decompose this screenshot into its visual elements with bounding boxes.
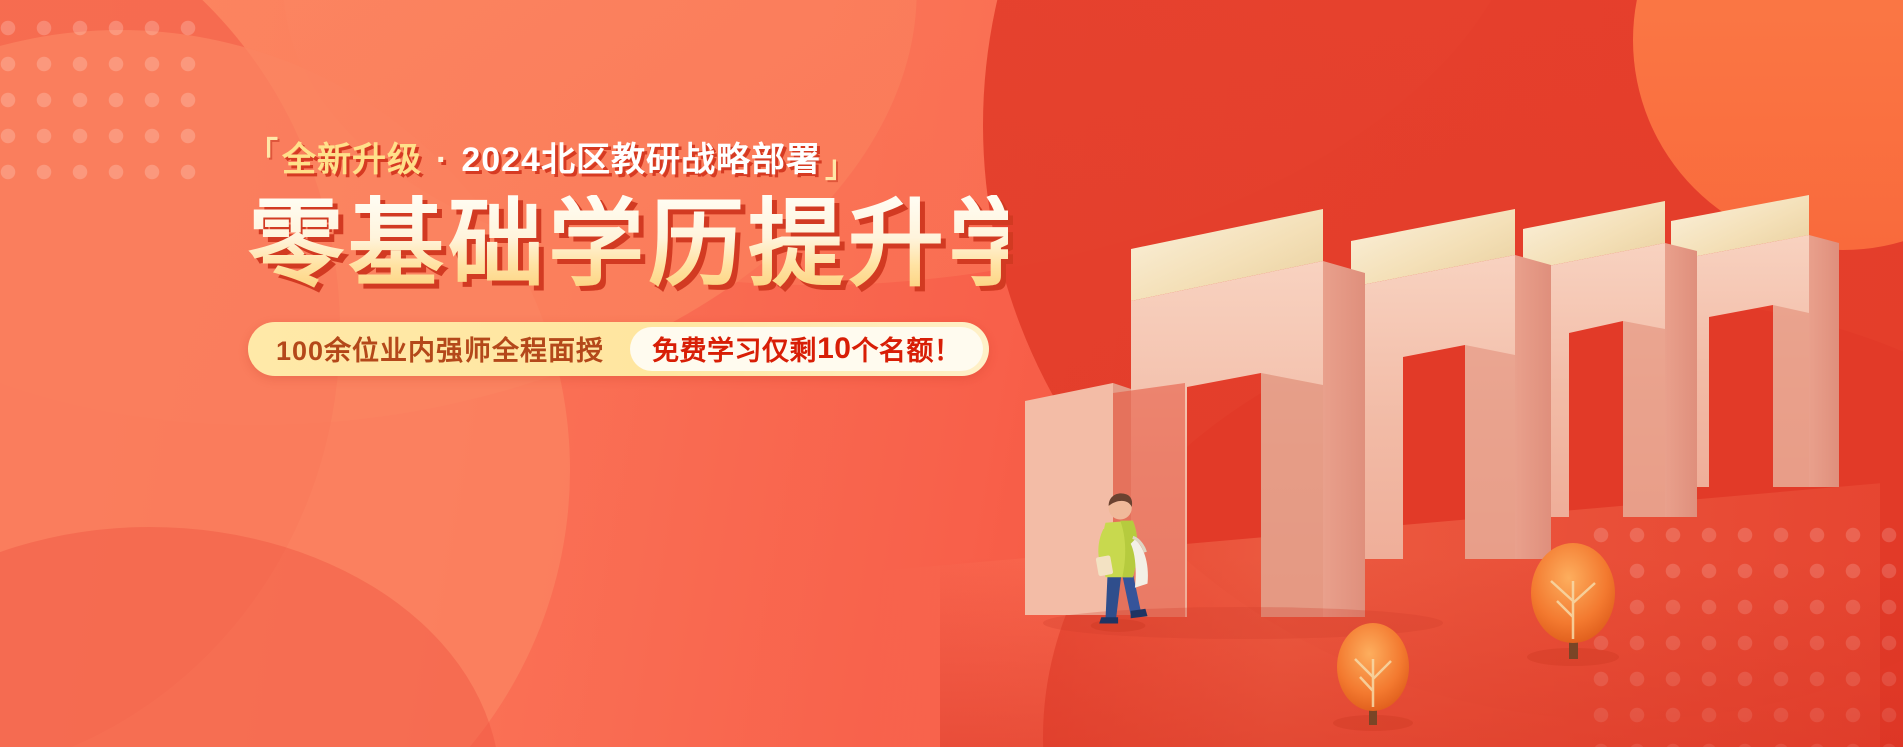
pill-right-prefix: 免费学习仅剩 xyxy=(652,329,817,368)
book-arch-2 xyxy=(1351,209,1551,559)
tree-mid xyxy=(1333,623,1413,731)
subtitle-separator: · xyxy=(426,140,457,181)
bracket-close-icon: 」 xyxy=(825,150,855,186)
subtitle-highlight: 全新升级 xyxy=(282,140,422,181)
pill-right-number: 10 xyxy=(817,332,851,366)
pill-right-badge[interactable]: 免费学习仅剩10个名额！ xyxy=(630,327,983,371)
dot-pattern-top-left xyxy=(0,10,210,200)
banner-subtitle: 「 全新升级 · 2024北区教研战略部署 」 xyxy=(248,140,1008,181)
subtitle-main: 2024北区教研战略部署 xyxy=(461,140,821,181)
page-title: 零基础学历提升学霸班 xyxy=(248,195,1008,296)
pill-left-label: 100余位业内强师全程面授 xyxy=(276,329,630,368)
tree-right xyxy=(1527,543,1619,666)
background-blob-left-light xyxy=(0,30,570,747)
background-blob-bottom-left xyxy=(0,527,500,747)
pill-right-suffix: 个名额！ xyxy=(851,329,961,368)
promo-banner: 「 全新升级 · 2024北区教研战略部署 」 零基础学历提升学霸班 100余位… xyxy=(0,0,1903,747)
banner-content: 「 全新升级 · 2024北区教研战略部署 」 零基础学历提升学霸班 100余位… xyxy=(248,140,1008,376)
highlight-pill: 100余位业内强师全程面授 免费学习仅剩10个名额！ xyxy=(248,322,989,376)
bracket-open-icon: 「 xyxy=(248,136,278,172)
